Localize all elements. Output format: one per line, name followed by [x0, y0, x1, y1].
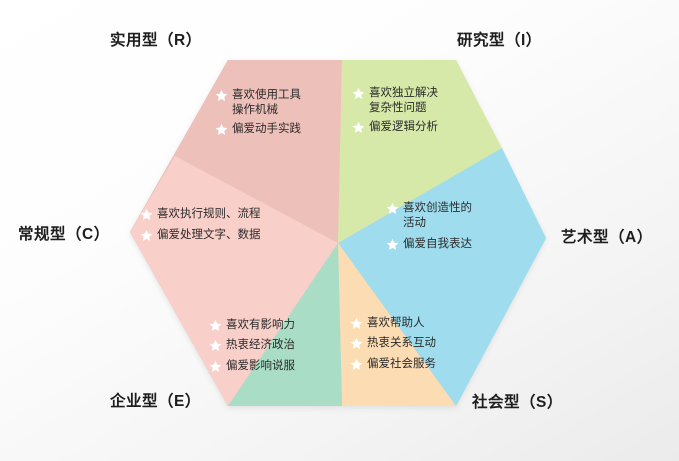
bullet-line: 偏爱自我表达: [403, 237, 472, 252]
bullet-item: 喜欢创造性的 活动: [386, 201, 472, 232]
bullet-line: 喜欢有影响力: [226, 318, 295, 333]
bullet-line: 偏爱动手实践: [232, 122, 301, 137]
bullet-text: 热衷关系互动: [367, 336, 436, 351]
bullet-text: 热衷经济政治: [226, 338, 295, 353]
star-icon: [209, 319, 222, 332]
bullet-line: 偏爱处理文字、数据: [157, 228, 261, 243]
diagram-canvas: 实用型（R） 研究型（I） 艺术型（A） 社会型（S） 企业型（E） 常规型（C…: [0, 0, 679, 461]
corner-label-E: 企业型（E）: [110, 394, 201, 410]
bullet-text: 喜欢使用工具 操作机械: [232, 88, 301, 119]
star-icon: [140, 208, 153, 221]
bullet-text: 喜欢独立解决 复杂性问题: [369, 86, 438, 117]
bullet-item: 偏爱逻辑分析: [352, 120, 438, 135]
bullet-line: 偏爱逻辑分析: [369, 120, 438, 135]
bullets-R: 喜欢使用工具 操作机械 偏爱动手实践: [215, 88, 301, 140]
bullet-line: 喜欢使用工具: [232, 88, 301, 103]
star-icon: [215, 123, 228, 136]
bullet-item: 热衷关系互动: [350, 336, 436, 351]
bullet-line: 复杂性问题: [369, 101, 438, 116]
bullet-line: 操作机械: [232, 103, 301, 118]
bullet-text: 偏爱社会服务: [367, 357, 436, 372]
bullet-text: 喜欢帮助人: [367, 316, 425, 331]
bullet-item: 偏爱自我表达: [386, 237, 472, 252]
star-icon: [386, 238, 399, 251]
star-icon: [350, 317, 363, 330]
bullets-A: 喜欢创造性的 活动 偏爱自我表达: [386, 201, 472, 255]
bullet-line: 喜欢创造性的: [403, 201, 472, 216]
bullet-item: 喜欢有影响力: [209, 318, 295, 333]
bullet-text: 喜欢有影响力: [226, 318, 295, 333]
bullet-line: 热衷经济政治: [226, 338, 295, 353]
star-icon: [352, 121, 365, 134]
bullet-line: 热衷关系互动: [367, 336, 436, 351]
bullet-item: 喜欢执行规则、流程: [140, 207, 261, 222]
bullets-E: 喜欢有影响力 热衷经济政治 偏爱影响说服: [209, 318, 295, 376]
star-icon: [209, 339, 222, 352]
bullets-S: 喜欢帮助人 热衷关系互动 偏爱社会服务: [350, 316, 436, 374]
corner-label-C: 常规型（C）: [18, 227, 110, 243]
star-icon: [215, 89, 228, 102]
corner-label-A: 艺术型（A）: [561, 230, 653, 246]
bullet-line: 偏爱影响说服: [226, 359, 295, 374]
bullet-line: 活动: [403, 216, 472, 231]
bullet-item: 喜欢独立解决 复杂性问题: [352, 86, 438, 117]
bullet-item: 偏爱动手实践: [215, 122, 301, 137]
bullet-line: 喜欢帮助人: [367, 316, 425, 331]
star-icon: [350, 337, 363, 350]
bullets-C: 喜欢执行规则、流程 偏爱处理文字、数据: [140, 207, 261, 247]
bullet-line: 偏爱社会服务: [367, 357, 436, 372]
bullet-item: 偏爱社会服务: [350, 357, 436, 372]
bullet-text: 偏爱逻辑分析: [369, 120, 438, 135]
bullet-item: 偏爱处理文字、数据: [140, 228, 261, 243]
bullet-item: 喜欢使用工具 操作机械: [215, 88, 301, 119]
bullet-line: 喜欢执行规则、流程: [157, 207, 261, 222]
bullet-text: 喜欢创造性的 活动: [403, 201, 472, 232]
bullet-item: 喜欢帮助人: [350, 316, 436, 331]
star-icon: [386, 202, 399, 215]
bullet-item: 偏爱影响说服: [209, 359, 295, 374]
bullet-text: 喜欢执行规则、流程: [157, 207, 261, 222]
bullet-text: 偏爱影响说服: [226, 359, 295, 374]
bullets-I: 喜欢独立解决 复杂性问题 偏爱逻辑分析: [352, 86, 438, 138]
star-icon: [350, 358, 363, 371]
bullet-item: 热衷经济政治: [209, 338, 295, 353]
bullet-line: 喜欢独立解决: [369, 86, 438, 101]
corner-label-R: 实用型（R）: [110, 33, 202, 49]
bullet-text: 偏爱自我表达: [403, 237, 472, 252]
corner-label-I: 研究型（I）: [457, 33, 542, 49]
star-icon: [209, 360, 222, 373]
star-icon: [352, 87, 365, 100]
bullet-text: 偏爱处理文字、数据: [157, 228, 261, 243]
star-icon: [140, 229, 153, 242]
bullet-text: 偏爱动手实践: [232, 122, 301, 137]
corner-label-S: 社会型（S）: [472, 395, 563, 411]
